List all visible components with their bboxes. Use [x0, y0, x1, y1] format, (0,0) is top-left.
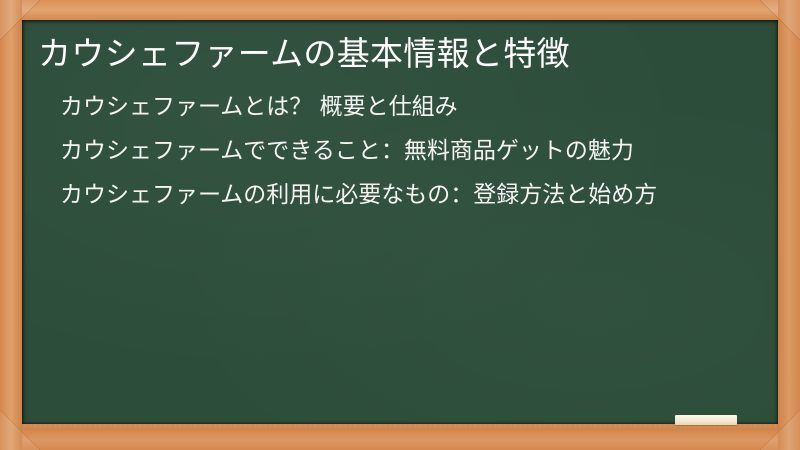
frame-rail-bottom	[0, 428, 800, 450]
frame-rail-right	[778, 0, 800, 450]
frame-rail-top	[0, 0, 800, 22]
list-item[interactable]: カウシェファームの利用に必要なもの：登録方法と始め方	[60, 178, 754, 213]
chalkboard-graphic: カウシェファームの基本情報と特徴 カウシェファームとは？ 概要と仕組み カウシェ…	[0, 0, 800, 450]
frame-rail-left	[0, 0, 22, 450]
table-of-contents: カウシェファームとは？ 概要と仕組み カウシェファームでできること：無料商品ゲッ…	[38, 90, 754, 213]
list-item[interactable]: カウシェファームでできること：無料商品ゲットの魅力	[60, 134, 754, 169]
list-item[interactable]: カウシェファームとは？ 概要と仕組み	[60, 90, 754, 125]
chalkboard-surface: カウシェファームの基本情報と特徴 カウシェファームとは？ 概要と仕組み カウシェ…	[22, 20, 778, 424]
page-title: カウシェファームの基本情報と特徴	[38, 32, 754, 76]
chalk-stick-icon	[675, 415, 737, 425]
board-content: カウシェファームの基本情報と特徴 カウシェファームとは？ 概要と仕組み カウシェ…	[22, 20, 778, 424]
